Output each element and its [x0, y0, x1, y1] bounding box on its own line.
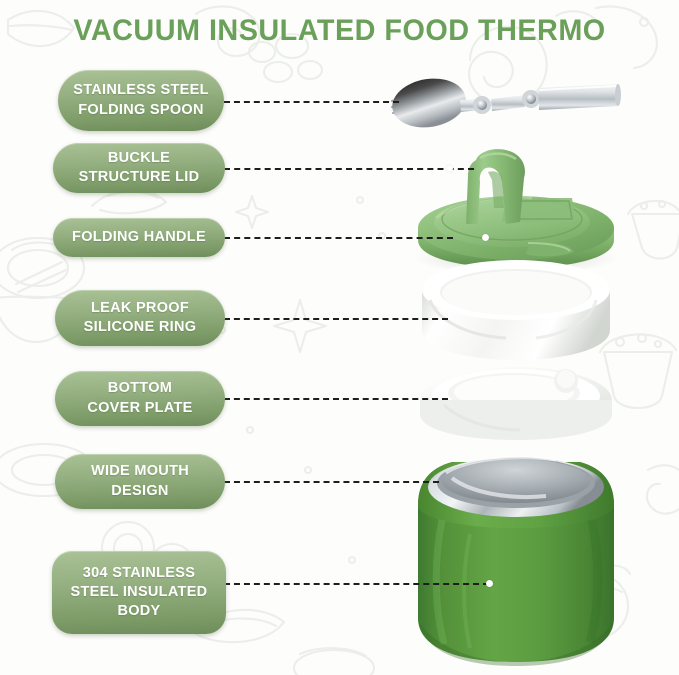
product-part-body — [418, 457, 614, 666]
callout-label: WIDE MOUTH DESIGN — [91, 462, 189, 500]
callout-stainless-steel-folding-spoon[interactable]: STAINLESS STEEL FOLDING SPOON — [58, 70, 224, 131]
product-part-cover-plate — [420, 367, 612, 440]
callout-label: FOLDING HANDLE — [72, 228, 206, 247]
leader-line-bottom-cover-plate — [224, 398, 448, 400]
leader-line-leak-proof-silicone-ring — [224, 318, 448, 320]
callout-leak-proof-silicone-ring[interactable]: LEAK PROOF SILICONE RING — [55, 290, 225, 346]
callout-bottom-cover-plate[interactable]: BOTTOM COVER PLATE — [55, 371, 225, 426]
callout-folding-handle[interactable]: FOLDING HANDLE — [53, 218, 225, 257]
page-title: VACUUM INSULATED FOOD THERMO — [14, 14, 666, 48]
leader-line-wide-mouth-design — [224, 481, 439, 483]
callout-label: 304 STAINLESS STEEL INSULATED BODY — [71, 564, 208, 621]
leader-line-buckle-structure-lid — [224, 168, 474, 170]
anchor-dot-folding-handle — [482, 234, 489, 241]
leader-line-stainless-steel-folding-spoon — [224, 101, 399, 103]
leader-line-folding-handle — [224, 237, 453, 239]
infographic-canvas: VACUUM INSULATED FOOD THERMO — [0, 0, 679, 675]
anchor-dot-buckle-structure-lid — [446, 165, 453, 172]
product-part-wide-mouth — [428, 457, 604, 517]
callout-304-stainless-steel-insulated-body[interactable]: 304 STAINLESS STEEL INSULATED BODY — [52, 551, 226, 634]
product-part-silicone-ring — [422, 260, 610, 360]
anchor-dot-304-stainless-steel-insulated-body — [486, 580, 493, 587]
product-part-folding-spoon — [389, 74, 621, 133]
callout-label: LEAK PROOF SILICONE RING — [84, 299, 197, 337]
callout-wide-mouth-design[interactable]: WIDE MOUTH DESIGN — [55, 454, 225, 509]
callout-label: BUCKLE STRUCTURE LID — [79, 149, 200, 187]
leader-line-304-stainless-steel-insulated-body — [224, 583, 489, 585]
callout-label: STAINLESS STEEL FOLDING SPOON — [73, 81, 209, 119]
callout-buckle-structure-lid[interactable]: BUCKLE STRUCTURE LID — [53, 143, 225, 193]
callout-label: BOTTOM COVER PLATE — [87, 379, 192, 417]
